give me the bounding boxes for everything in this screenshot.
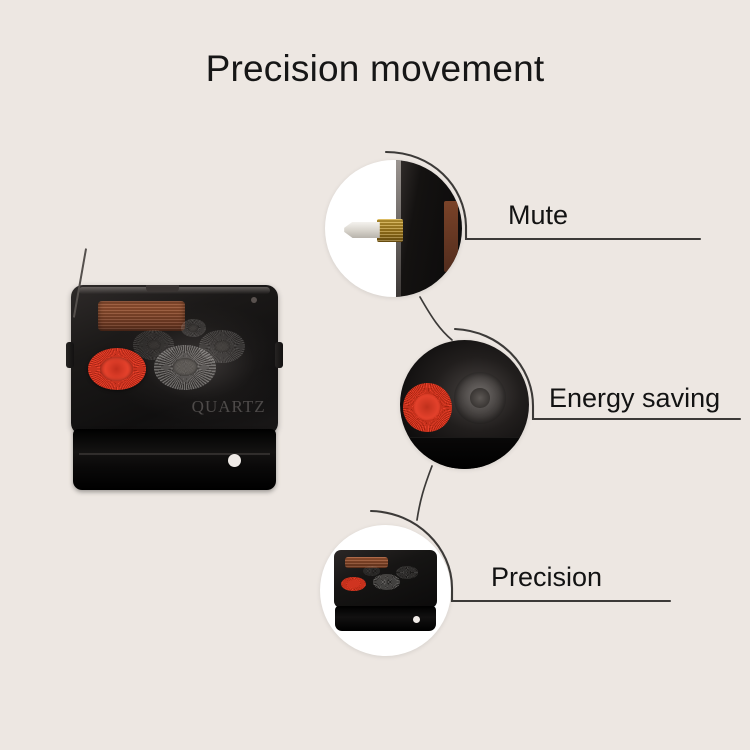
callout-label-energy-saving: Energy saving xyxy=(549,383,720,414)
callout-image-mute xyxy=(325,160,462,297)
callout-image-energy-saving xyxy=(400,340,529,469)
housing-screw-dot xyxy=(251,297,257,303)
product-image-main: QUARTZ xyxy=(71,285,278,490)
callout-red-ratchet-wheel xyxy=(403,383,452,432)
mini-gear-mid xyxy=(396,566,418,579)
mini-gear-large xyxy=(373,574,400,589)
callout-base-ledge xyxy=(400,437,529,469)
connector-energy-to-precision xyxy=(417,466,432,520)
mini-housing xyxy=(334,550,436,608)
copper-coil xyxy=(98,301,185,331)
mounting-ear-right xyxy=(275,342,283,368)
brass-threaded-collar xyxy=(377,219,403,242)
mini-red-ratchet-wheel xyxy=(341,577,367,592)
movement-housing: QUARTZ xyxy=(71,285,278,435)
shaft-coil-edge xyxy=(444,201,458,272)
page-title: Precision movement xyxy=(0,48,750,90)
connector-mute-to-energy xyxy=(420,297,452,340)
mini-mounting-hole xyxy=(413,616,420,623)
red-ratchet-wheel xyxy=(88,348,146,390)
callout-gear xyxy=(454,372,506,424)
mounting-hole xyxy=(228,454,241,467)
brand-text: QUARTZ xyxy=(192,397,266,417)
gear-tiny xyxy=(181,319,206,337)
callout-label-precision: Precision xyxy=(491,562,602,593)
mini-mounting-base xyxy=(335,606,435,631)
callout-image-precision xyxy=(320,525,451,656)
mini-movement xyxy=(334,550,436,631)
mounting-ear-left xyxy=(66,342,74,368)
callout-label-mute: Mute xyxy=(508,200,568,231)
shaft-housing xyxy=(396,160,462,297)
mounting-base xyxy=(73,429,276,491)
housing-notch xyxy=(146,285,179,292)
product-infographic: Precision movement QUARTZ xyxy=(0,0,750,750)
white-shaft-tip xyxy=(344,222,380,238)
gear-large xyxy=(154,345,216,390)
